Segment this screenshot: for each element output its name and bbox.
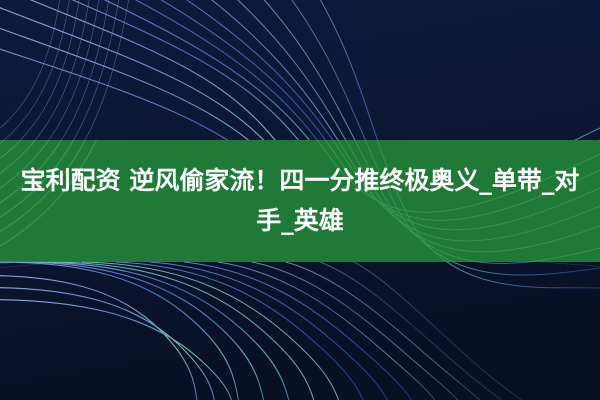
banner-image: 宝利配资 逆风偷家流！四一分推终极奥义_单带_对手_英雄 — [0, 0, 600, 400]
headline-text: 宝利配资 逆风偷家流！四一分推终极奥义_单带_对手_英雄 — [17, 161, 583, 241]
headline-container: 宝利配资 逆风偷家流！四一分推终极奥义_单带_对手_英雄 — [0, 140, 600, 262]
